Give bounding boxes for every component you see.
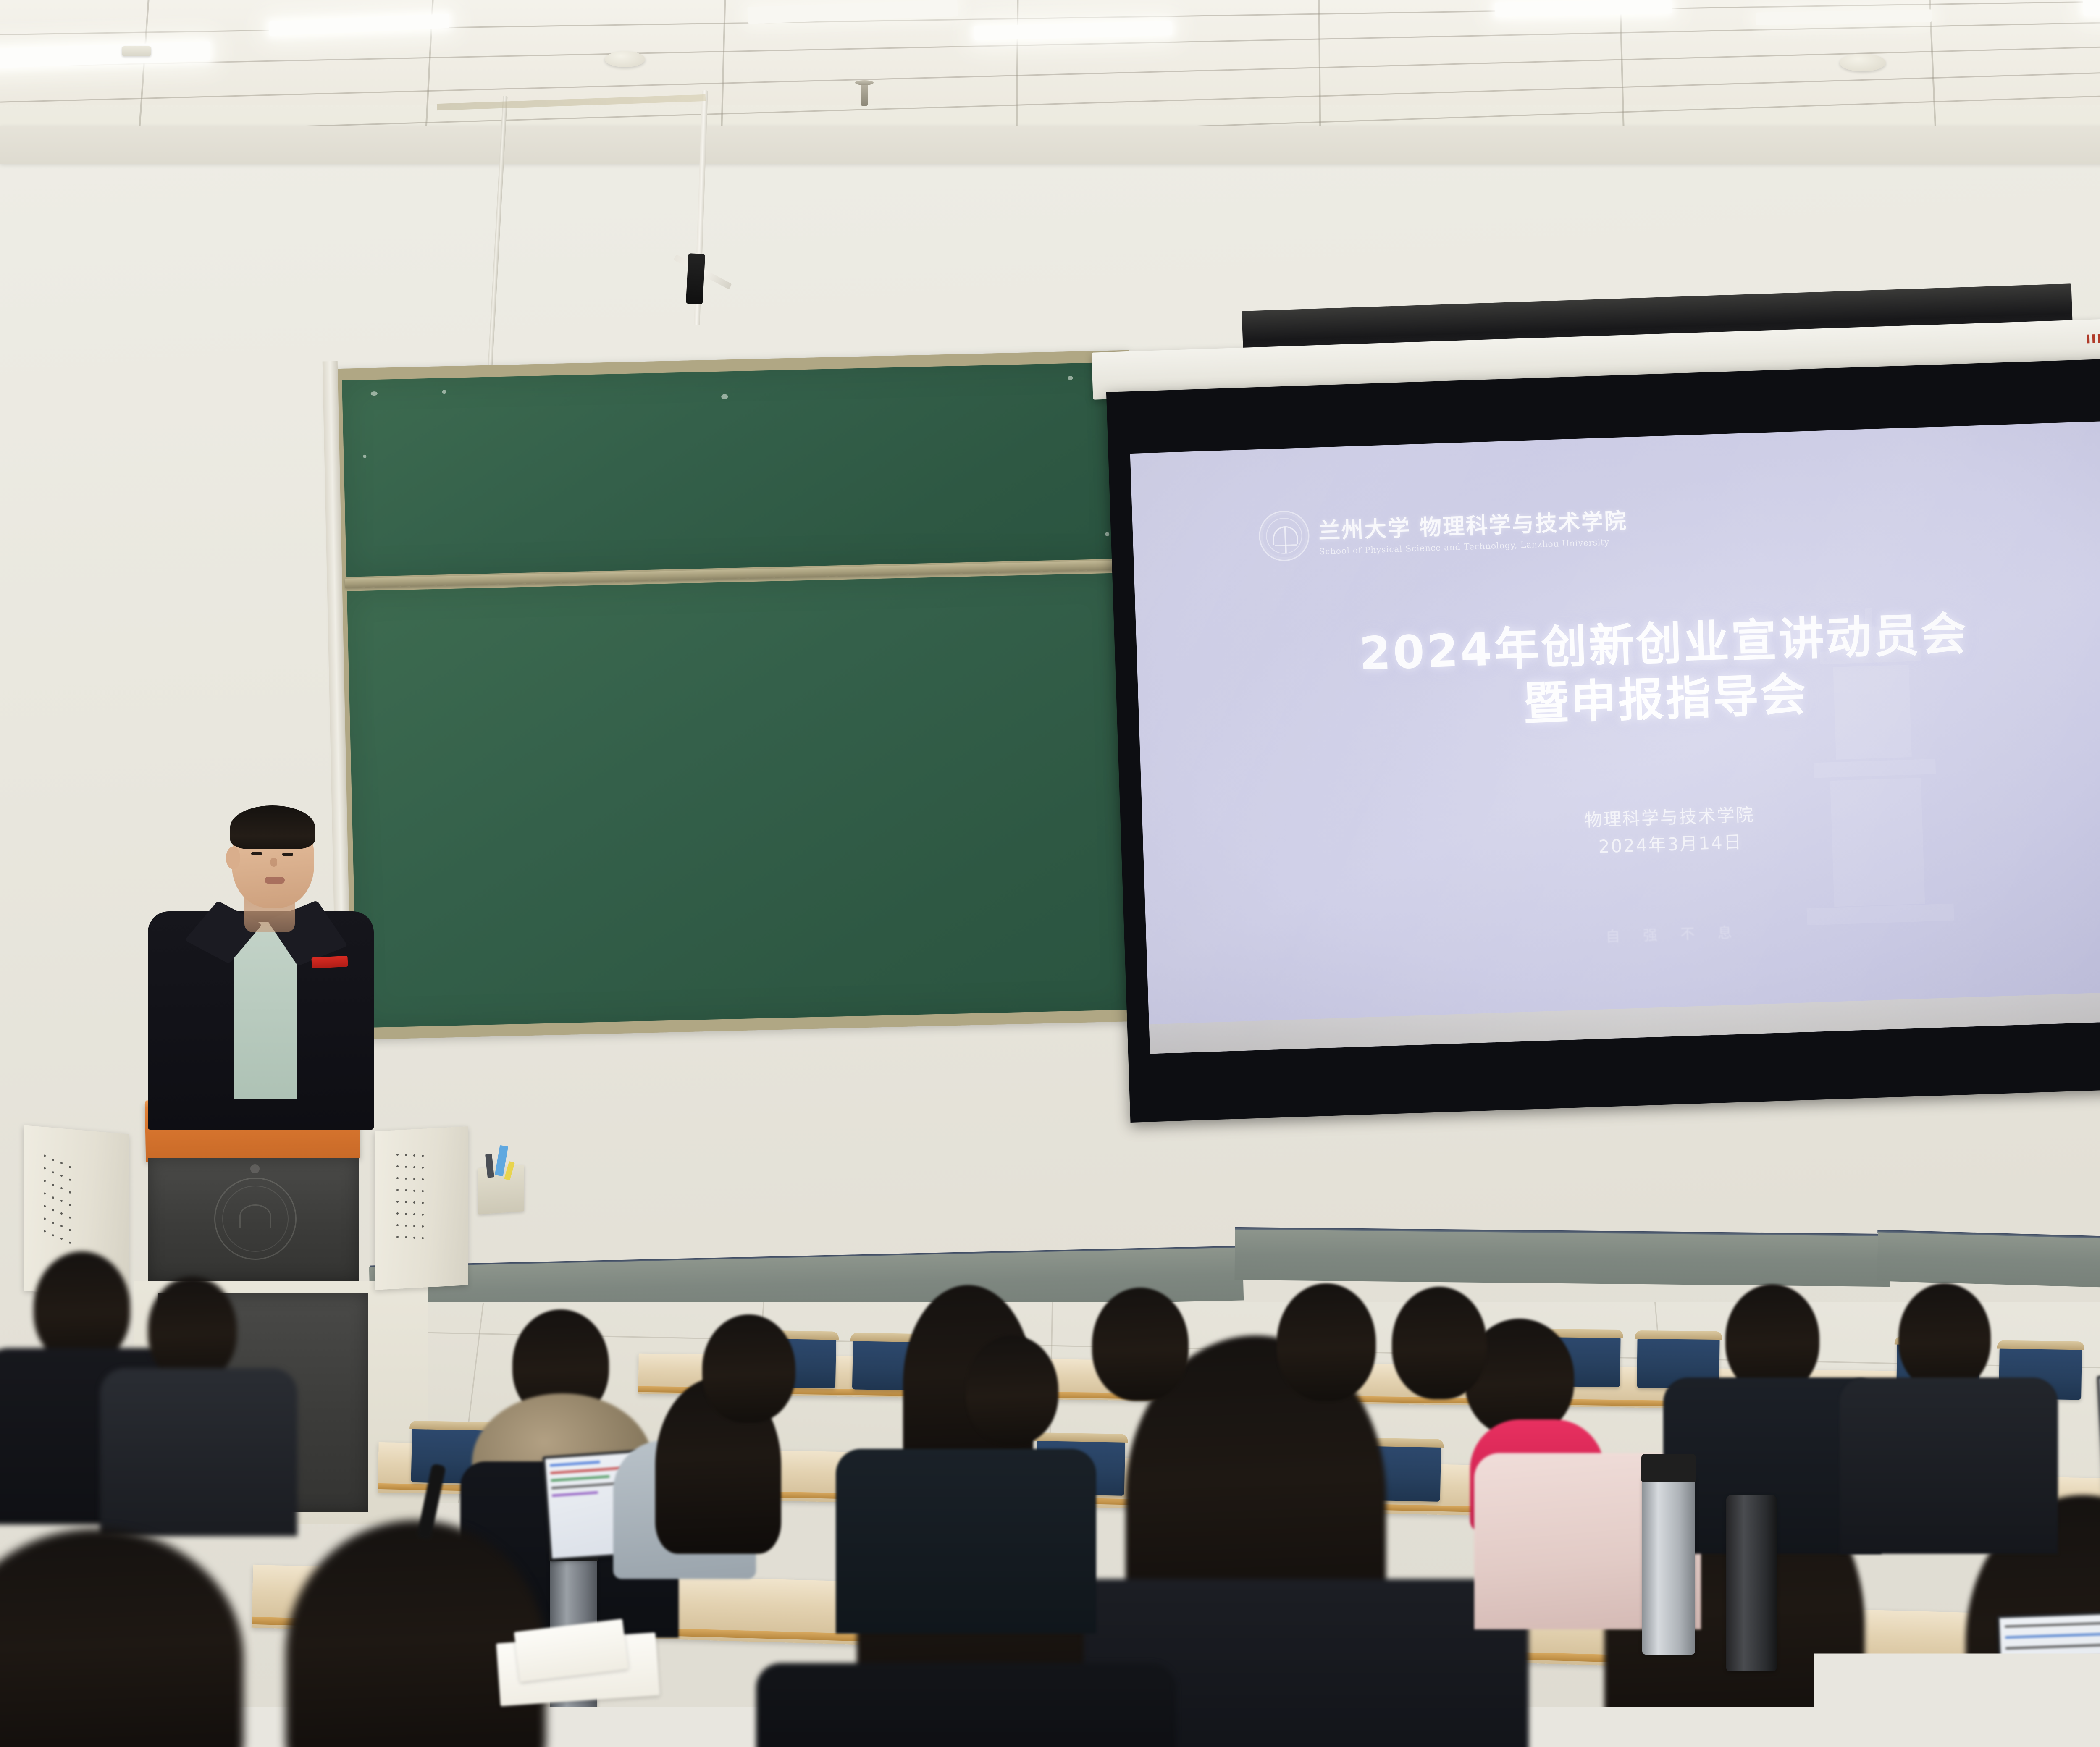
slide-logo: 兰州大学 物理科学与技术学院 School of Physical Scienc…: [1258, 499, 1628, 562]
podium-front-panel: [148, 1158, 359, 1281]
ceiling-light-strip: [2083, 0, 2100, 16]
laptop-screen-front-right: [2000, 1612, 2100, 1747]
dome-detector: [605, 51, 645, 67]
screen-brand-mark: ▌▌▌: [2087, 334, 2100, 343]
slide-surface: 兰州大学 物理科学与技术学院 School of Physical Scienc…: [1130, 419, 2100, 1054]
lecture-hall-photo: EPSON ▌▌▌: [0, 0, 2100, 1747]
screen-mount-clamp: [686, 253, 705, 304]
chalkboard-lower-panel: [347, 573, 1131, 1028]
smoke-detector: [122, 46, 151, 56]
projection-screen: 兰州大学 物理科学与技术学院 School of Physical Scienc…: [1106, 356, 2100, 1123]
laptop-front-right[interactable]: [1997, 1610, 2100, 1747]
green-chalkboard: [329, 350, 1144, 1040]
chalkboard-upper-panel: [342, 362, 1121, 577]
presenter-chest-patch: [311, 956, 348, 968]
ceiling-beam: [0, 126, 2100, 164]
podium-right-wing: [375, 1126, 468, 1290]
sprinkler-head: [861, 82, 868, 106]
water-bottle-clear[interactable]: [1642, 1474, 1695, 1655]
wainscot-center: [1234, 1230, 1890, 1287]
presenter-ear: [226, 847, 240, 869]
dome-detector: [1840, 54, 1886, 71]
university-crest-icon: [1258, 510, 1310, 562]
podium-university-seal: [214, 1178, 297, 1260]
presenter-hair: [230, 805, 315, 849]
water-bottle-dark[interactable]: [1726, 1495, 1777, 1671]
water-bottle-cap[interactable]: [1641, 1454, 1696, 1482]
